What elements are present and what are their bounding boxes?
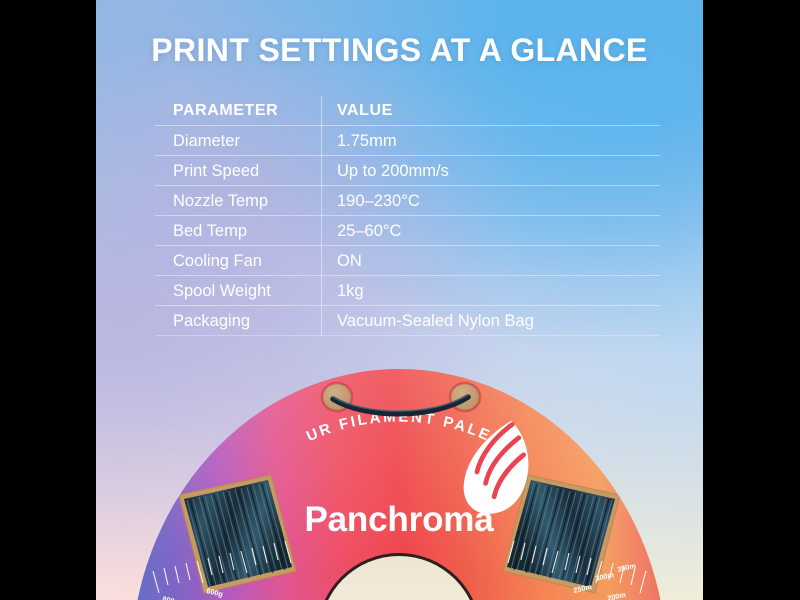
table-row: Nozzle Temp 190–230°C [155, 186, 660, 216]
column-header-parameter: PARAMETER [155, 96, 322, 126]
table-header-row: PARAMETER VALUE [155, 96, 660, 126]
filament-spool-graphic: 800g 600g [96, 335, 703, 600]
row-value-print-speed: Up to 200mm/s [322, 156, 660, 186]
row-value-packaging: Vacuum-Sealed Nylon Bag [322, 306, 660, 336]
screenshot-stage: PRINT SETTINGS AT A GLANCE PARAMETER VAL… [0, 0, 800, 600]
row-parameter-nozzle-temp: Nozzle Temp [155, 186, 322, 216]
row-value-cooling-fan: ON [322, 246, 660, 276]
product-graphic-canvas: PRINT SETTINGS AT A GLANCE PARAMETER VAL… [96, 0, 703, 600]
table-row: Diameter 1.75mm [155, 126, 660, 156]
letterbox-bar-left [0, 0, 96, 600]
row-value-spool-weight: 1kg [322, 276, 660, 306]
row-parameter-cooling-fan: Cooling Fan [155, 246, 322, 276]
letterbox-bar-right [703, 0, 800, 600]
row-parameter-diameter: Diameter [155, 126, 322, 156]
spec-table: PARAMETER VALUE Diameter 1.75mm Print Sp… [155, 96, 660, 336]
table-row: Print Speed Up to 200mm/s [155, 156, 660, 186]
table-row: Packaging Vacuum-Sealed Nylon Bag [155, 306, 660, 336]
row-value-bed-temp: 25–60°C [322, 216, 660, 246]
table-row: Cooling Fan ON [155, 246, 660, 276]
row-value-nozzle-temp: 190–230°C [322, 186, 660, 216]
table-row: Bed Temp 25–60°C [155, 216, 660, 246]
row-parameter-packaging: Packaging [155, 306, 322, 336]
row-parameter-print-speed: Print Speed [155, 156, 322, 186]
row-parameter-bed-temp: Bed Temp [155, 216, 322, 246]
page-title: PRINT SETTINGS AT A GLANCE [96, 32, 703, 69]
column-header-value: VALUE [322, 96, 660, 126]
row-value-diameter: 1.75mm [322, 126, 660, 156]
row-parameter-spool-weight: Spool Weight [155, 276, 322, 306]
brand-wordmark: Panchroma [304, 500, 494, 539]
table-row: Spool Weight 1kg [155, 276, 660, 306]
